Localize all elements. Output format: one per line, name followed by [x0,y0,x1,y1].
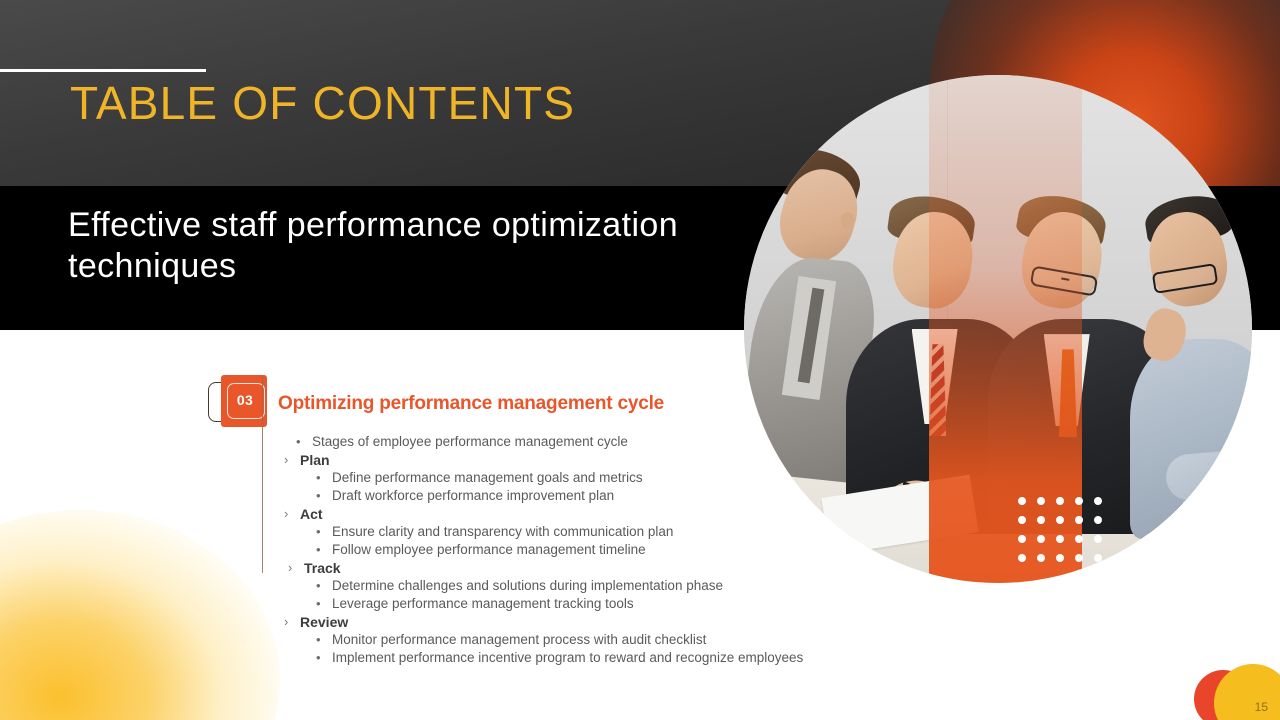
toc-list-item-label: Plan [300,451,978,469]
toc-list-item[interactable]: •Leverage performance management trackin… [278,595,978,613]
chevron-right-icon: › [284,613,300,631]
chevron-right-icon: › [284,505,300,523]
dot-grid-decoration [1018,497,1106,566]
dot [1094,497,1102,505]
dot [1075,516,1083,524]
slide-subtitle: Effective staff performance optimization… [68,205,688,288]
dot [1094,516,1102,524]
dot [1056,535,1064,543]
toc-list-item[interactable]: •Define performance management goals and… [278,469,978,487]
section-heading: Optimizing performance management cycle [278,393,664,415]
toc-list-item-label: Stages of employee performance managemen… [312,433,978,451]
dot [1037,516,1045,524]
dot [1018,516,1026,524]
dot [1018,554,1026,562]
background-glow-yellow [0,510,280,720]
dot [1056,516,1064,524]
chevron-right-icon: › [284,451,300,469]
toc-list-item[interactable]: ›Plan [278,451,978,469]
toc-list-item[interactable]: •Determine challenges and solutions duri… [278,577,978,595]
section-number-label: 03 [227,383,263,417]
bullet-icon: • [316,523,332,541]
toc-list-item-label: Monitor performance management process w… [332,631,978,649]
toc-list-item-label: Leverage performance management tracking… [332,595,978,613]
dot [1037,535,1045,543]
dot [1037,497,1045,505]
dot [1094,554,1102,562]
toc-list-item-label: Review [300,613,978,631]
page-title: TABLE OF CONTENTS [70,80,575,126]
person-4-body [1130,339,1252,539]
person-1-ear [841,212,854,229]
bullet-icon: • [316,487,332,505]
page-number: 15 [1255,700,1268,714]
toc-list-item-label: Follow employee performance management t… [332,541,978,559]
chevron-right-icon: › [288,559,304,577]
title-accent-line [0,69,206,72]
toc-list-item-label: Draft workforce performance improvement … [332,487,978,505]
toc-list-item[interactable]: ›Act [278,505,978,523]
bullet-icon: • [316,595,332,613]
dot [1075,497,1083,505]
toc-list-item[interactable]: •Stages of employee performance manageme… [278,433,978,451]
toc-list-item[interactable]: ›Track [278,559,978,577]
dot [1056,497,1064,505]
bullet-icon: • [316,541,332,559]
toc-list-item-label: Determine challenges and solutions durin… [332,577,978,595]
toc-list-item[interactable]: •Ensure clarity and transparency with co… [278,523,978,541]
toc-list-item[interactable]: ›Review [278,613,978,631]
dot [1056,554,1064,562]
dot [1018,535,1026,543]
toc-list-item-label: Implement performance incentive program … [332,649,978,667]
bullet-icon: • [316,649,332,667]
dot [1075,535,1083,543]
toc-item-list: •Stages of employee performance manageme… [278,433,978,667]
slide-canvas: TABLE OF CONTENTS Effective staff perfor… [0,0,1280,720]
toc-list-item[interactable]: •Monitor performance management process … [278,631,978,649]
dot [1037,554,1045,562]
toc-list-item-label: Define performance management goals and … [332,469,978,487]
toc-list-item-label: Act [300,505,978,523]
toc-list-item[interactable]: •Implement performance incentive program… [278,649,978,667]
bullet-icon: • [316,631,332,649]
toc-list-item[interactable]: •Draft workforce performance improvement… [278,487,978,505]
dot [1075,554,1083,562]
bullet-icon: • [296,433,312,451]
toc-list-item[interactable]: •Follow employee performance management … [278,541,978,559]
toc-list-item-label: Track [304,559,978,577]
toc-list-item-label: Ensure clarity and transparency with com… [332,523,978,541]
bullet-icon: • [316,577,332,595]
section-divider-line [262,375,263,573]
bullet-icon: • [316,469,332,487]
dot [1094,535,1102,543]
dot [1018,497,1026,505]
section-number-badge[interactable]: 03 [208,375,270,429]
